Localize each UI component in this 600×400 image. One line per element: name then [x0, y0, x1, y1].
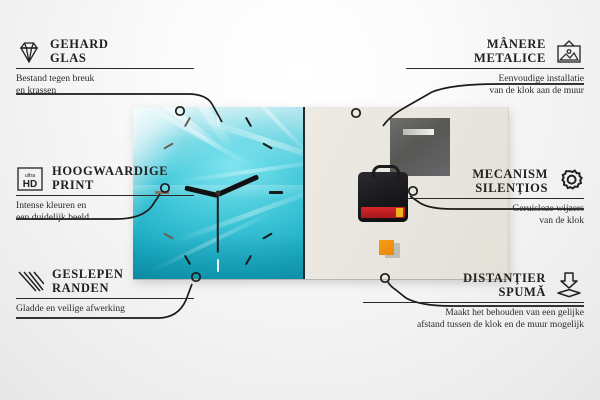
- feature-geslepen-randen: GESLEPEN RANDEN Gladde en veilige afwerk…: [16, 268, 201, 315]
- feature-description: Maakt het behouden van een gelijke afsta…: [356, 307, 584, 331]
- wall-hanger-icon: [554, 39, 584, 65]
- dial-tick-6: [217, 259, 219, 272]
- feature-header: GESLEPEN RANDEN: [16, 268, 201, 295]
- feature-description: Eenvoudige installatie van de klok aan d…: [399, 73, 584, 97]
- feature-title: GEHARD GLAS: [50, 38, 108, 65]
- feature-underline: [406, 68, 584, 69]
- feature-header: GEHARD GLAS: [16, 38, 201, 65]
- feature-gehard-glas: GEHARD GLAS Bestand tegen breuk en krass…: [16, 38, 201, 97]
- feature-description: Bestand tegen breuk en krassen: [16, 73, 201, 97]
- feature-header: MÂNERE METALICE: [399, 38, 584, 65]
- feature-manere-metalice: MÂNERE METALICE Eenvoudige installatie v…: [399, 38, 584, 97]
- feature-header: MECANISM SILENŢIOS: [399, 168, 584, 195]
- infographic-canvas: GEHARD GLAS Bestand tegen breuk en krass…: [0, 0, 600, 400]
- feature-description: Gladde en veilige afwerking: [16, 303, 201, 315]
- ultra-hd-icon: ultra HD: [16, 166, 44, 192]
- feature-title: DISTANŢIER SPUMĂ: [463, 272, 546, 299]
- feature-underline: [16, 298, 194, 299]
- diamond-icon: [16, 40, 42, 64]
- dial-tick-3: [269, 191, 283, 194]
- feature-hoogwaardige-print: ultra HD HOOGWAARDIGE PRINT Intense kleu…: [16, 165, 201, 224]
- svg-text:HD: HD: [23, 179, 37, 190]
- feature-underline: [16, 195, 194, 196]
- movement-hanging-loop: [372, 165, 400, 178]
- feature-header: DISTANŢIER SPUMĂ: [356, 272, 584, 299]
- feature-title: GESLEPEN RANDEN: [52, 268, 124, 295]
- foam-spacer: [379, 240, 394, 255]
- spacer-arrow-icon: [554, 272, 584, 299]
- beveled-edge-icon: [16, 270, 44, 294]
- feature-underline: [363, 302, 584, 303]
- feature-title: HOOGWAARDIGE PRINT: [52, 165, 168, 192]
- hanger-keyhole-slot: [403, 129, 434, 135]
- feature-title: MECANISM SILENŢIOS: [472, 168, 548, 195]
- feature-description: Geruisloze wijzers van de klok: [399, 203, 584, 227]
- feature-description: Intense kleuren en een duidelijk beeld: [16, 200, 201, 224]
- clock-center-pivot: [216, 191, 221, 196]
- feature-distantier-spuma: DISTANŢIER SPUMĂ Maakt het behouden van …: [356, 272, 584, 331]
- gear-icon: [556, 168, 584, 195]
- feature-header: ultra HD HOOGWAARDIGE PRINT: [16, 165, 201, 192]
- feature-mecanism-silentios: MECANISM SILENŢIOS Geruisloze wijzers va…: [399, 168, 584, 227]
- feature-underline: [406, 198, 584, 199]
- dial-tick-10: [163, 142, 174, 149]
- feature-underline: [16, 68, 194, 69]
- dial-tick-12: [217, 113, 219, 126]
- second-hand: [217, 195, 219, 253]
- feature-title: MÂNERE METALICE: [474, 38, 546, 65]
